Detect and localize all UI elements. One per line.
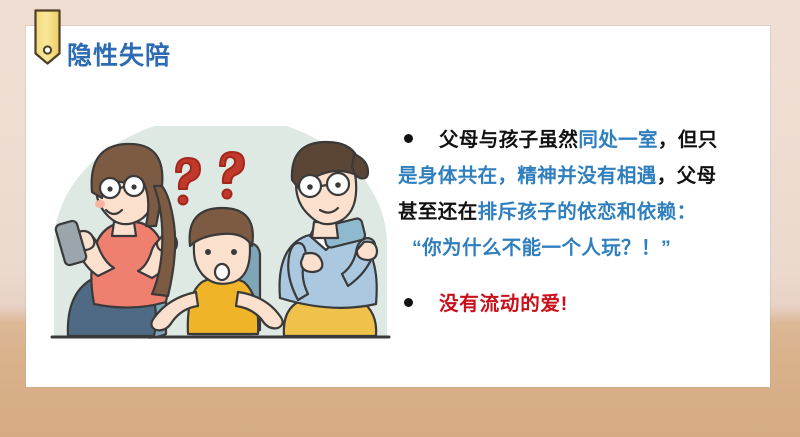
- text-run-emphasis: 没有流动的爱!: [439, 293, 568, 315]
- page-title: 隐性失陪: [67, 36, 171, 72]
- slide-canvas: 隐性失陪: [0, 0, 800, 437]
- bullet-item-2: 没有流动的爱!: [398, 286, 750, 322]
- parents-on-phones-ignoring-child-illustration: [48, 126, 393, 354]
- text-run-highlight: 是身体共在，精神并没有相遇: [398, 165, 657, 187]
- text-run: 父母与孩子虽然: [439, 129, 578, 151]
- bookmark-tag-icon: [33, 9, 62, 65]
- text-run: ，父母: [657, 165, 717, 187]
- text-run: 甚至还在: [398, 201, 478, 223]
- bullet-marker: [404, 298, 413, 307]
- body-text-column: 父母与孩子虽然同处一室，但只是身体共在，精神并没有相遇，父母甚至还在排斥孩子的依…: [398, 122, 750, 322]
- bullet-item-1: 父母与孩子虽然同处一室，但只是身体共在，精神并没有相遇，父母甚至还在排斥孩子的依…: [398, 122, 750, 266]
- quote-line: “你为什么不能一个人玩？！”: [398, 230, 750, 266]
- text-run-highlight: 排斥孩子的依恋和依赖：: [478, 201, 697, 223]
- bullet-marker: [404, 134, 413, 143]
- text-run: ，但只: [658, 129, 718, 151]
- text-run-highlight: 同处一室: [578, 129, 658, 151]
